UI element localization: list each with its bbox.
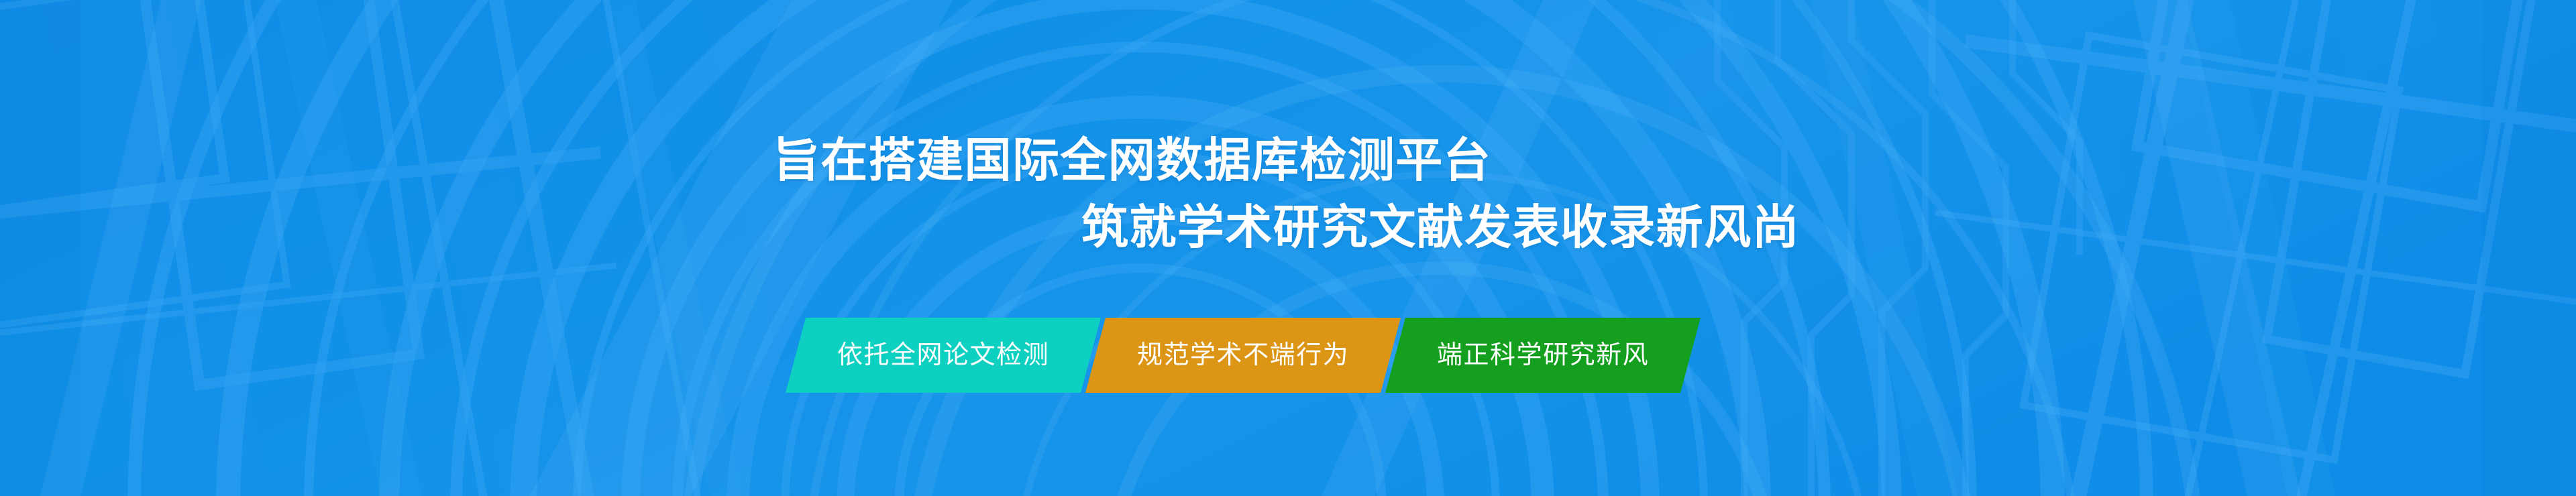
feature-badge-paper-detection[interactable]: 依托全网论文检测 bbox=[786, 318, 1101, 393]
feature-badge-group: 依托全网论文检测 规范学术不端行为 端正科学研究新风 bbox=[796, 318, 1809, 393]
feature-badge-misconduct-regulation[interactable]: 规范学术不端行为 bbox=[1085, 318, 1401, 393]
feature-badge-paper-detection-label: 依托全网论文检测 bbox=[833, 343, 1053, 368]
feature-badge-research-ethos[interactable]: 端正科学研究新风 bbox=[1385, 318, 1701, 393]
headline-line-1: 旨在搭建国际全网数据库检测平台 bbox=[773, 133, 1491, 188]
feature-badge-research-ethos-label: 端正科学研究新风 bbox=[1433, 343, 1653, 368]
headline-line-2: 筑就学术研究文献发表收录新风尚 bbox=[1081, 200, 1800, 255]
feature-badge-misconduct-regulation-label: 规范学术不端行为 bbox=[1133, 343, 1353, 368]
promo-banner: 旨在搭建国际全网数据库检测平台 筑就学术研究文献发表收录新风尚 依托全网论文检测… bbox=[0, 0, 2576, 496]
headline-block: 旨在搭建国际全网数据库检测平台 筑就学术研究文献发表收录新风尚 bbox=[0, 0, 2576, 496]
